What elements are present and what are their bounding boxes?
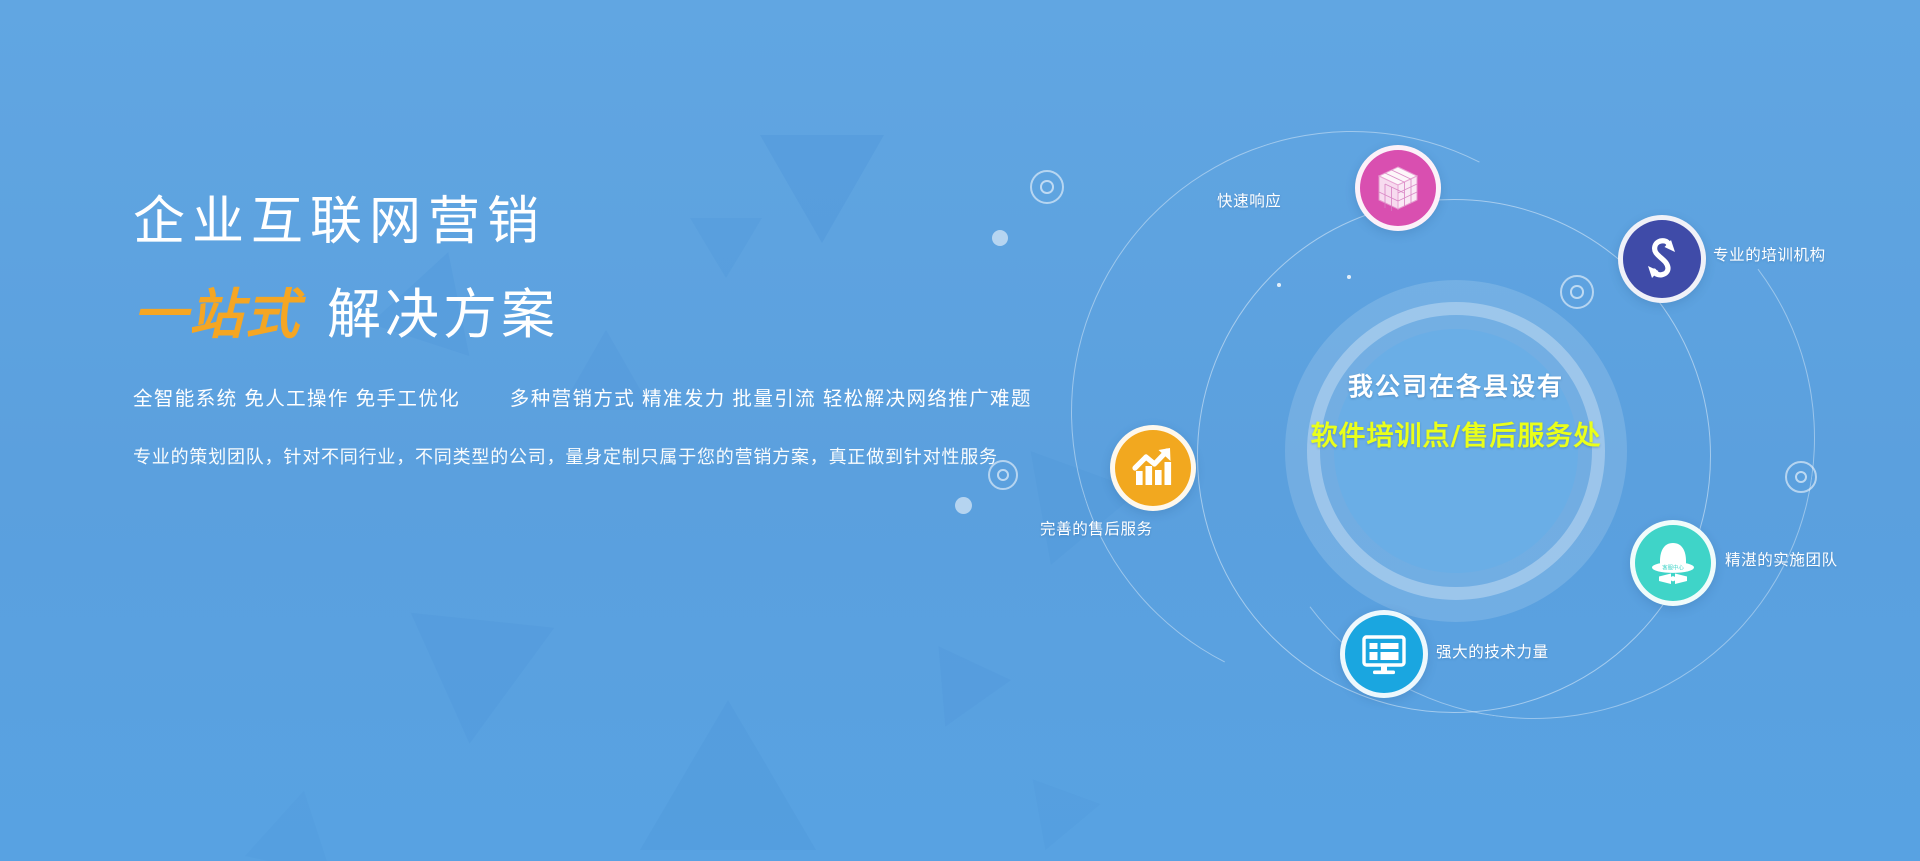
center-text-line2: 软件培训点/售后服务处 — [1285, 414, 1627, 453]
decor-triangle — [245, 782, 347, 861]
hero-description: 专业的策划团队，针对不同行业，不同类型的公司，量身定制只属于您的营销方案，真正做… — [133, 443, 1033, 469]
target-ring-decor — [988, 460, 1018, 490]
node-bubble[interactable] — [1340, 610, 1428, 698]
decor-triangle — [640, 700, 816, 850]
svg-text:客服中心: 客服中心 — [1662, 564, 1684, 572]
center-text-line1: 我公司在各县设有 — [1285, 367, 1627, 403]
monitor-icon — [1359, 629, 1409, 679]
node-label: 专业的培训机构 — [1713, 243, 1826, 265]
orbit-dot — [992, 230, 1008, 246]
node-after-sales[interactable]: 完善的售后服务 — [1110, 425, 1196, 511]
node-bubble[interactable] — [1355, 145, 1441, 231]
subtitle-rest: 解决方案 — [327, 285, 559, 345]
node-label: 完善的售后服务 — [1040, 517, 1153, 539]
page-title: 企业互联网营销 — [133, 196, 1033, 248]
node-label: 快速响应 — [1217, 189, 1281, 211]
node-fast-response[interactable]: 快速响应 — [1355, 145, 1441, 231]
swap-arrows-icon — [1637, 234, 1687, 284]
center-text: 我公司在各县设有 软件培训点/售后服务处 — [1285, 367, 1627, 453]
node-label: 精湛的实施团队 — [1725, 548, 1838, 570]
target-ring-decor — [1277, 283, 1281, 287]
node-bubble[interactable] — [1110, 425, 1196, 511]
node-implementation[interactable]: 客服中心 精湛的实施团队 — [1630, 520, 1716, 606]
node-technology[interactable]: 强大的技术力量 — [1340, 610, 1428, 698]
target-ring-decor — [1785, 461, 1817, 493]
feature-list: 全智能系统 免人工操作 免手工优化 多种营销方式 精准发力 批量引流 轻松解决网… — [133, 382, 1033, 411]
target-ring-decor — [1560, 275, 1594, 309]
node-bubble[interactable] — [1618, 215, 1706, 303]
node-training[interactable]: 专业的培训机构 — [1618, 215, 1706, 303]
subtitle: 一站式解决方案 — [133, 288, 1033, 342]
cube-icon — [1374, 164, 1422, 212]
target-ring-decor — [1347, 275, 1351, 279]
target-ring-decor — [1030, 170, 1064, 204]
marketing-banner: 企业互联网营销 一站式解决方案 全智能系统 免人工操作 免手工优化 多种营销方式… — [0, 0, 1920, 861]
node-label: 强大的技术力量 — [1436, 640, 1549, 662]
decor-triangle — [909, 646, 1011, 743]
decor-triangle — [398, 613, 554, 751]
feature-list-left: 全智能系统 免人工操作 免手工优化 — [133, 388, 460, 410]
growth-chart-icon — [1129, 444, 1177, 492]
hero-copy: 企业互联网营销 一站式解决方案 全智能系统 免人工操作 免手工优化 多种营销方式… — [133, 196, 1033, 469]
service-diagram: 我公司在各县设有 软件培训点/售后服务处 — [1085, 95, 1920, 795]
subtitle-highlight: 一站式 — [133, 285, 301, 345]
node-bubble[interactable]: 客服中心 — [1630, 520, 1716, 606]
feature-list-right: 多种营销方式 精准发力 批量引流 轻松解决网络推广难题 — [510, 388, 1032, 410]
service-hat-icon: 客服中心 — [1647, 537, 1699, 589]
orbit-dot — [955, 497, 972, 514]
